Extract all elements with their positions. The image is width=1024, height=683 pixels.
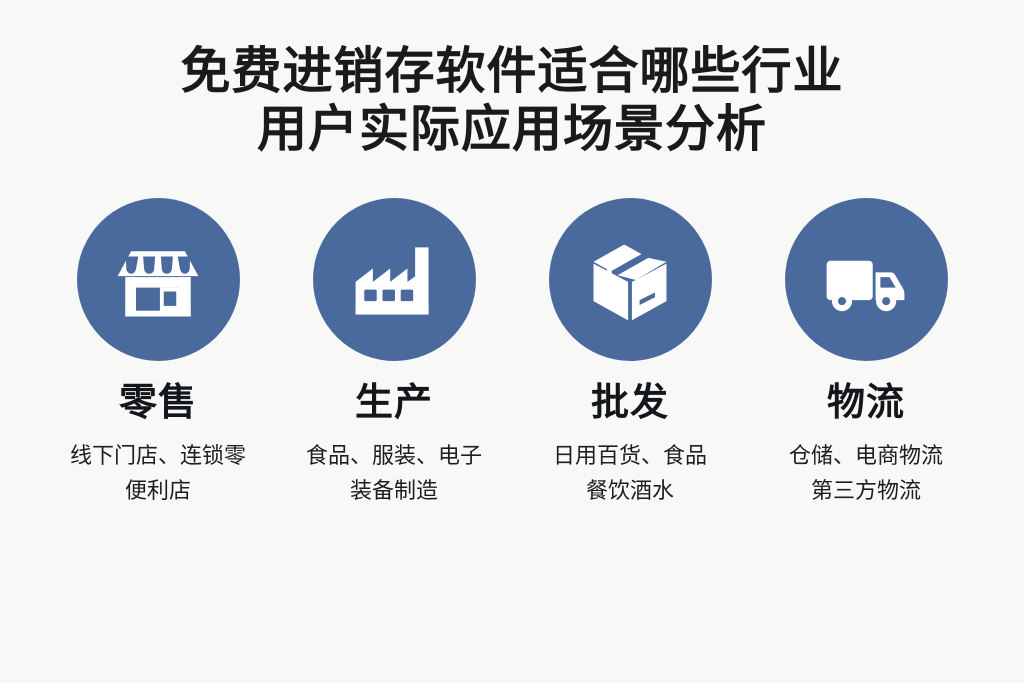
card-description-line-1: 日用百货、食品 [553, 438, 707, 474]
industry-card-row: 零售 线下门店、连锁零 便利店 [0, 198, 1024, 509]
card-title: 物流 [827, 383, 905, 425]
title-line-1: 免费进销存软件适合哪些行业 [0, 42, 1024, 100]
title-line-2: 用户实际应用场景分析 [0, 100, 1024, 158]
infographic-poster: 免费进销存软件适合哪些行业 用户实际应用场景分析 [0, 0, 1024, 683]
delivery-truck-icon-badge [785, 198, 948, 361]
card-description: 食品、服装、电子 装备制造 [306, 438, 482, 509]
storefront-icon [110, 232, 206, 328]
card-description: 线下门店、连锁零 便利店 [70, 438, 246, 509]
industry-card-retail: 零售 线下门店、连锁零 便利店 [40, 198, 276, 509]
industry-card-wholesale: 批发 日用百货、食品 餐饮酒水 [512, 198, 748, 509]
package-box-icon-badge [549, 198, 712, 361]
industry-card-logistics: 物流 仓储、电商物流 第三方物流 [748, 198, 984, 509]
card-description-line-2: 装备制造 [306, 473, 482, 509]
storefront-icon-badge [77, 198, 240, 361]
card-description: 仓储、电商物流 第三方物流 [789, 438, 943, 509]
factory-icon [346, 232, 442, 328]
card-title: 零售 [119, 383, 197, 425]
card-title: 批发 [591, 383, 669, 425]
card-description-line-2: 餐饮酒水 [553, 473, 707, 509]
card-description: 日用百货、食品 餐饮酒水 [553, 438, 707, 509]
card-description-line-1: 仓储、电商物流 [789, 438, 943, 474]
card-title: 生产 [355, 383, 433, 425]
package-box-icon [582, 232, 678, 328]
factory-icon-badge [313, 198, 476, 361]
page-title: 免费进销存软件适合哪些行业 用户实际应用场景分析 [0, 42, 1024, 158]
card-description-line-1: 线下门店、连锁零 [70, 438, 246, 474]
delivery-truck-icon [818, 232, 914, 328]
card-description-line-1: 食品、服装、电子 [306, 438, 482, 474]
card-description-line-2: 第三方物流 [789, 473, 943, 509]
card-description-line-2: 便利店 [70, 473, 246, 509]
industry-card-production: 生产 食品、服装、电子 装备制造 [276, 198, 512, 509]
